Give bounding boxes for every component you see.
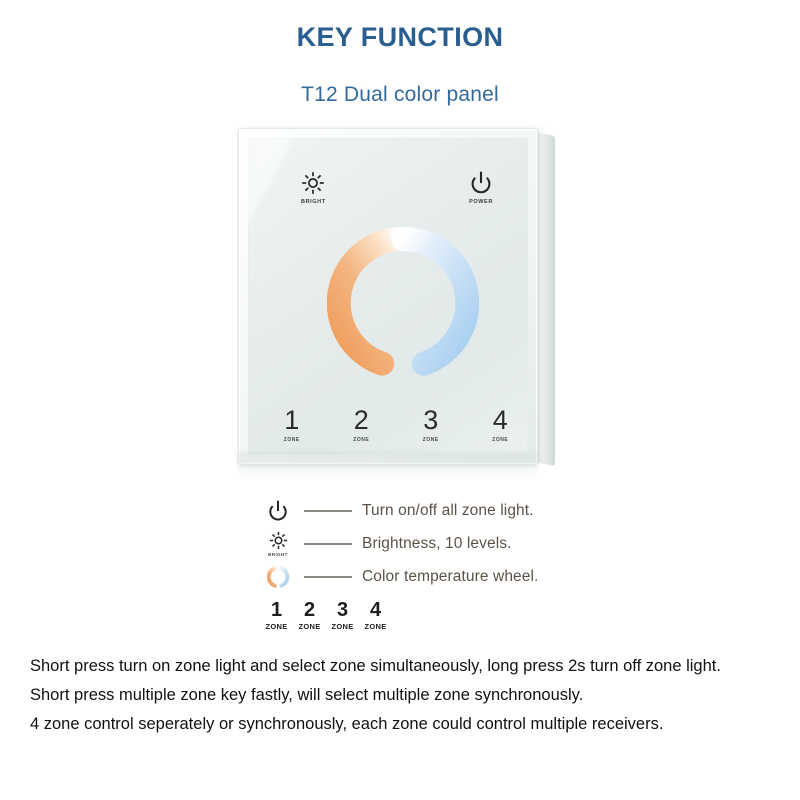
- panel-zone-label: ZONE: [284, 437, 300, 443]
- legend-zone-key-1: 1 ZONE: [260, 600, 293, 631]
- legend-zone-row: 1 ZONE 2 ZONE 3 ZONE 4 ZONE: [260, 600, 392, 631]
- legend-zone-number: 2: [304, 600, 315, 620]
- legend-zone-key-4: 4 ZONE: [359, 600, 392, 631]
- legend-row-power: Turn on/off all zone light.: [258, 494, 578, 527]
- legend-row-bright: BRIGHT Brightness, 10 levels.: [258, 527, 578, 560]
- device-glass-bezel: BRIGHT POWER: [238, 128, 538, 465]
- panel-power-label: POWER: [469, 199, 493, 205]
- panel-zone-label: ZONE: [492, 437, 508, 443]
- legend-zone-key-3: 3 ZONE: [326, 600, 359, 631]
- key-function-page: KEY FUNCTION T12 Dual color panel: [0, 0, 800, 800]
- panel-zone-key-row: 1 ZONE 2 ZONE 3 ZONE 4 ZONE: [257, 407, 535, 443]
- panel-zone-key-3[interactable]: 3 ZONE: [396, 407, 466, 443]
- legend-dash: [304, 510, 352, 512]
- panel-zone-key-4[interactable]: 4 ZONE: [466, 407, 536, 443]
- legend-text-power: Turn on/off all zone light.: [362, 502, 534, 520]
- description-text: Short press turn on zone light and selec…: [30, 652, 772, 739]
- legend-zone-label: ZONE: [265, 622, 287, 631]
- panel-zone-number: 2: [354, 407, 369, 434]
- legend-text-bright: Brightness, 10 levels.: [362, 535, 512, 553]
- panel-zone-key-1[interactable]: 1 ZONE: [257, 407, 327, 443]
- legend-dash: [304, 543, 352, 545]
- device-reflection: [238, 452, 538, 478]
- legend: Turn on/off all zone light.: [258, 494, 578, 593]
- panel-bright-key[interactable]: BRIGHT: [301, 171, 326, 205]
- page-title: KEY FUNCTION: [0, 22, 800, 53]
- legend-zone-key-2: 2 ZONE: [293, 600, 326, 631]
- legend-zone-number: 1: [271, 600, 282, 620]
- color-temperature-wheel[interactable]: [327, 227, 479, 379]
- power-icon: [469, 171, 493, 195]
- panel-zone-label: ZONE: [423, 437, 439, 443]
- power-icon: [258, 500, 298, 522]
- sun-icon: [301, 171, 325, 195]
- description-paragraph-2: Short press multiple zone key fastly, wi…: [30, 681, 772, 710]
- legend-dash: [304, 576, 352, 578]
- legend-zone-number: 3: [337, 600, 348, 620]
- legend-zone-label: ZONE: [331, 622, 353, 631]
- legend-zone-label: ZONE: [364, 622, 386, 631]
- description-paragraph-1: Short press turn on zone light and selec…: [30, 652, 772, 681]
- panel-bright-label: BRIGHT: [301, 199, 326, 205]
- panel-power-key[interactable]: POWER: [469, 171, 493, 205]
- legend-zone-label: ZONE: [298, 622, 320, 631]
- legend-row-wheel: Color temperature wheel.: [258, 560, 578, 593]
- legend-zone-number: 4: [370, 600, 381, 620]
- legend-text-wheel: Color temperature wheel.: [362, 568, 538, 586]
- sun-icon: BRIGHT: [258, 531, 298, 557]
- page-subtitle: T12 Dual color panel: [0, 83, 800, 107]
- panel-zone-number: 3: [423, 407, 438, 434]
- legend-bright-label: BRIGHT: [268, 552, 288, 557]
- description-paragraph-3: 4 zone control seperately or synchronous…: [30, 710, 772, 739]
- color-wheel-icon: [258, 566, 298, 588]
- device-illustration: BRIGHT POWER: [222, 118, 582, 483]
- panel-zone-number: 4: [493, 407, 508, 434]
- panel-zone-number: 1: [284, 407, 299, 434]
- panel-zone-label: ZONE: [353, 437, 369, 443]
- panel-zone-key-2[interactable]: 2 ZONE: [327, 407, 397, 443]
